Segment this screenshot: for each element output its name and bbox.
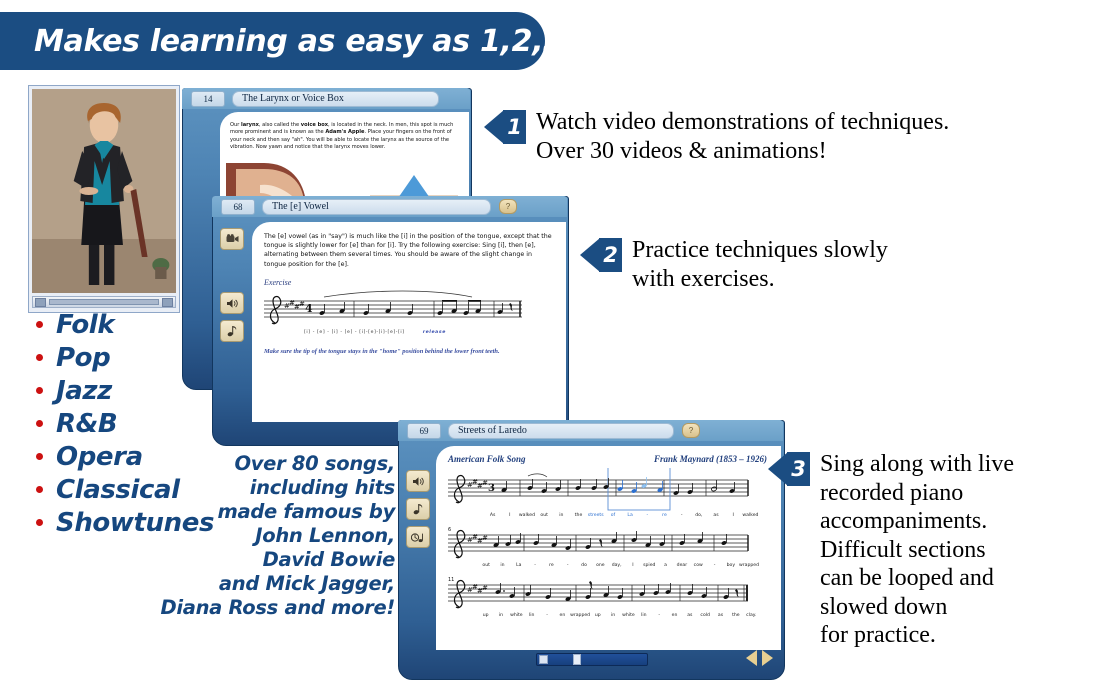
video-transport-bar[interactable] <box>32 296 176 308</box>
poster-stage: Makes learning as easy as 1,2,3! <box>0 0 1105 700</box>
banner-title: Makes learning as easy as 1,2,3! <box>34 24 577 59</box>
songs-blurb-line: Over 80 songs, <box>160 452 395 476</box>
tool-palette <box>220 228 244 256</box>
lyric-syllable: La <box>622 513 639 518</box>
page-title: Streets of Laredo <box>448 423 674 439</box>
lyric-syllable: As <box>484 513 501 518</box>
step-number: 1 <box>503 110 526 144</box>
lyric-syllable: out <box>536 513 553 518</box>
lyric-syllable: I <box>625 563 641 568</box>
notation-system-2[interactable]: 6 #### <box>448 523 768 563</box>
tool-palette <box>406 470 430 554</box>
lyric-syllable: cold <box>698 613 713 618</box>
release-label: release <box>423 330 446 335</box>
window-titlebar: 69 Streets of Laredo ? <box>398 420 783 441</box>
lyric-syllable: I <box>501 513 518 518</box>
lyric-syllable: day, <box>609 563 625 568</box>
body-text: The [e] vowel (as in "say") is much like… <box>264 232 552 269</box>
callout-1: 1 Watch video demonstrations of techniqu… <box>484 108 1084 165</box>
song-genre-credit: American Folk Song <box>448 454 526 464</box>
page-number-badge: 68 <box>221 199 255 215</box>
step-marker-3: 3 <box>768 452 810 486</box>
callout-line: recorded piano <box>820 479 1014 508</box>
music-note-icon <box>413 503 424 515</box>
lyric-syllable: La <box>511 563 527 568</box>
page-number-badge: 69 <box>407 423 441 439</box>
lyric-syllable: clay. <box>744 613 759 618</box>
exercise-notation: #### 4 <box>264 289 554 329</box>
speaker-icon <box>226 298 239 309</box>
lyric-syllable: streets <box>587 513 604 518</box>
lyric-syllable: in <box>494 563 510 568</box>
callout-line: Over 30 videos & animations! <box>536 137 949 166</box>
app-window-laredo[interactable]: 69 Streets of Laredo ? <box>398 420 783 678</box>
callout-3: 3 Sing along with live recorded piano ac… <box>768 450 1098 650</box>
lyric-syllable: cow <box>690 563 706 568</box>
lyric-syllable: as <box>713 613 728 618</box>
callout-text: Watch video demonstrations of techniques… <box>536 108 949 165</box>
callout-line: Difficult sections <box>820 536 1014 565</box>
lyric-syllable: the <box>570 513 587 518</box>
app-window-vowel[interactable]: 68 The [e] Vowel ? <box>212 196 567 444</box>
lyric-syllable: in <box>493 613 508 618</box>
triangle-arrow-icon <box>768 452 788 486</box>
songs-blurb-line: including hits <box>160 476 395 500</box>
video-viewport <box>32 89 176 293</box>
lyric-syllable: spied <box>641 563 657 568</box>
bullet-icon <box>36 486 43 493</box>
songs-blurb-line: made famous by <box>160 500 395 524</box>
genre-label: Jazz <box>56 376 112 406</box>
genre-label: R&B <box>56 409 117 439</box>
page-title: The Larynx or Voice Box <box>232 91 439 107</box>
music-note-button[interactable] <box>220 320 244 342</box>
body-text: Our larynx, also called the voice box, i… <box>230 122 459 152</box>
bullet-icon <box>36 354 43 361</box>
measure-number: 11 <box>448 577 454 583</box>
bullet-icon <box>36 420 43 427</box>
callout-line: Practice techniques slowly <box>632 236 888 265</box>
bullet-icon <box>36 387 43 394</box>
volume-button[interactable] <box>162 298 173 307</box>
song-author-credit: Frank Maynard (1853 – 1926) <box>654 454 767 464</box>
lyric-syllable: wrapped <box>570 613 590 618</box>
genre-label: Folk <box>56 310 114 340</box>
page-content: The [e] vowel (as in "say") is much like… <box>252 222 566 422</box>
music-note-button[interactable] <box>406 498 430 520</box>
notation-system-3[interactable]: 11 #### <box>448 573 768 613</box>
lyric-syllable: re <box>543 563 559 568</box>
song-credits: American Folk Song Frank Maynard (1853 –… <box>448 454 767 464</box>
lyric-syllable: I <box>725 513 742 518</box>
lyric-syllable: white <box>509 613 524 618</box>
lyric-syllable: wrapped <box>739 563 759 568</box>
songs-blurb-line: Diana Ross and more! <box>160 596 395 620</box>
lyric-syllable: - <box>651 613 666 618</box>
callout-line: Sing along with live <box>820 450 1014 479</box>
svg-text:#: # <box>482 534 488 542</box>
lyric-syllable: - <box>673 513 690 518</box>
lyric-syllable: do <box>576 563 592 568</box>
bullet-icon <box>36 453 43 460</box>
callout-line: accompaniments. <box>820 507 1014 536</box>
triangle-arrow-icon <box>484 110 504 144</box>
step-number: 3 <box>787 452 810 486</box>
lyric-syllable: do, <box>690 513 707 518</box>
step-marker-1: 1 <box>484 110 526 144</box>
songs-blurb-line: John Lennon, <box>160 524 395 548</box>
lyric-syllable: lin <box>524 613 539 618</box>
lyric-syllable: as <box>707 513 724 518</box>
callout-line: can be looped and <box>820 564 1014 593</box>
songs-blurb: Over 80 songs, including hits made famou… <box>160 452 395 620</box>
video-progress-slider[interactable] <box>49 299 159 305</box>
lyric-syllable: up <box>478 613 493 618</box>
lyric-syllable: - <box>560 563 576 568</box>
callout-2: 2 Practice techniques slowly with exerci… <box>580 236 1060 293</box>
lyric-syllable: as <box>682 613 697 618</box>
audio-button[interactable] <box>406 470 430 492</box>
callout-line: with exercises. <box>632 265 888 294</box>
callout-line: Watch video demonstrations of techniques… <box>536 108 949 137</box>
genre-label: Opera <box>56 442 143 472</box>
triangle-arrow-icon <box>580 238 600 272</box>
page-number-badge: 14 <box>191 91 225 107</box>
lyric-syllable: dear <box>674 563 690 568</box>
playback-scrollbar[interactable] <box>536 653 648 666</box>
scrollbar-thumb[interactable] <box>573 654 581 665</box>
help-icon[interactable]: ? <box>682 423 700 438</box>
svg-text:4: 4 <box>305 302 313 315</box>
lyric-syllable: the <box>728 613 743 618</box>
lyric-syllable: a <box>657 563 673 568</box>
speaker-icon <box>412 476 425 487</box>
songs-blurb-line: and Mick Jagger, <box>160 572 395 596</box>
genre-label: Pop <box>56 343 110 373</box>
video-camera-icon <box>226 234 239 244</box>
instructor-video-player[interactable] <box>28 85 180 313</box>
music-note-icon <box>227 325 238 337</box>
lyric-syllable: out <box>478 563 494 568</box>
callout-text: Practice techniques slowly with exercise… <box>632 236 888 293</box>
metronome-button[interactable] <box>406 526 430 548</box>
instructor-photo <box>32 89 176 293</box>
help-icon[interactable]: ? <box>499 199 517 214</box>
next-page-icon[interactable] <box>762 650 773 666</box>
scrollbar-start-box[interactable] <box>539 655 548 664</box>
notation-system-1[interactable]: #### 3 <box>448 468 768 514</box>
exercise-label: Exercise <box>264 278 566 287</box>
window-titlebar: 14 The Larynx or Voice Box <box>182 88 470 109</box>
lyric-syllable: in <box>605 613 620 618</box>
lyric-syllable: one <box>592 563 608 568</box>
metronome-icon <box>411 532 425 543</box>
callout-line: for practice. <box>820 621 1014 650</box>
lyric-syllable: of <box>604 513 621 518</box>
lyrics-line-3: up in white lin - en wrapped up in white… <box>478 613 759 618</box>
play-button[interactable] <box>35 298 46 307</box>
songs-blurb-line: David Bowie <box>160 548 395 572</box>
page-nav[interactable] <box>746 650 773 666</box>
syllable-row: [i] - [e] - [i] - [e] - [i]-[e]-[i]-[e]-… <box>304 330 566 335</box>
lyric-syllable: en <box>555 613 570 618</box>
lyrics-line-1: As I walked out in the streets of La - r… <box>484 513 759 518</box>
page-content: American Folk Song Frank Maynard (1853 –… <box>436 446 781 650</box>
lyric-syllable: lin <box>636 613 651 618</box>
lyric-syllable: - <box>706 563 722 568</box>
lyric-syllable: re <box>656 513 673 518</box>
callout-text: Sing along with live recorded piano acco… <box>820 450 1014 650</box>
header-banner: Makes learning as easy as 1,2,3! <box>0 12 545 70</box>
lyric-syllable: - <box>527 563 543 568</box>
lyric-syllable: walked <box>742 513 759 518</box>
measure-number: 6 <box>448 527 451 533</box>
lyric-syllable: - <box>639 513 656 518</box>
tip-caption: Make sure the tip of the tongue stays in… <box>264 348 566 355</box>
audio-button[interactable] <box>220 292 244 314</box>
lyric-syllable: white <box>621 613 636 618</box>
page-title: The [e] Vowel <box>262 199 491 215</box>
callout-line: slowed down <box>820 593 1014 622</box>
bullet-icon <box>36 519 43 526</box>
step-number: 2 <box>599 238 622 272</box>
list-item: R&B <box>30 407 220 440</box>
bullet-icon <box>36 321 43 328</box>
svg-text:3: 3 <box>488 483 495 494</box>
lyric-syllable: boy <box>723 563 739 568</box>
lyrics-line-2: out in La - re - do one day, I spied a d… <box>478 563 759 568</box>
video-button[interactable] <box>220 228 244 250</box>
lyric-syllable: in <box>553 513 570 518</box>
lyric-syllable: walked <box>518 513 535 518</box>
lyric-syllable: en <box>667 613 682 618</box>
syllables: [i] - [e] - [i] - [e] - [i]-[e]-[i]-[e]-… <box>304 330 405 335</box>
svg-text:#: # <box>482 584 488 592</box>
tool-palette-lower <box>220 292 244 348</box>
window-titlebar: 68 The [e] Vowel ? <box>212 196 567 217</box>
previous-page-icon[interactable] <box>746 650 757 666</box>
step-marker-2: 2 <box>580 238 622 272</box>
lyric-syllable: - <box>539 613 554 618</box>
lyric-syllable: up <box>590 613 605 618</box>
